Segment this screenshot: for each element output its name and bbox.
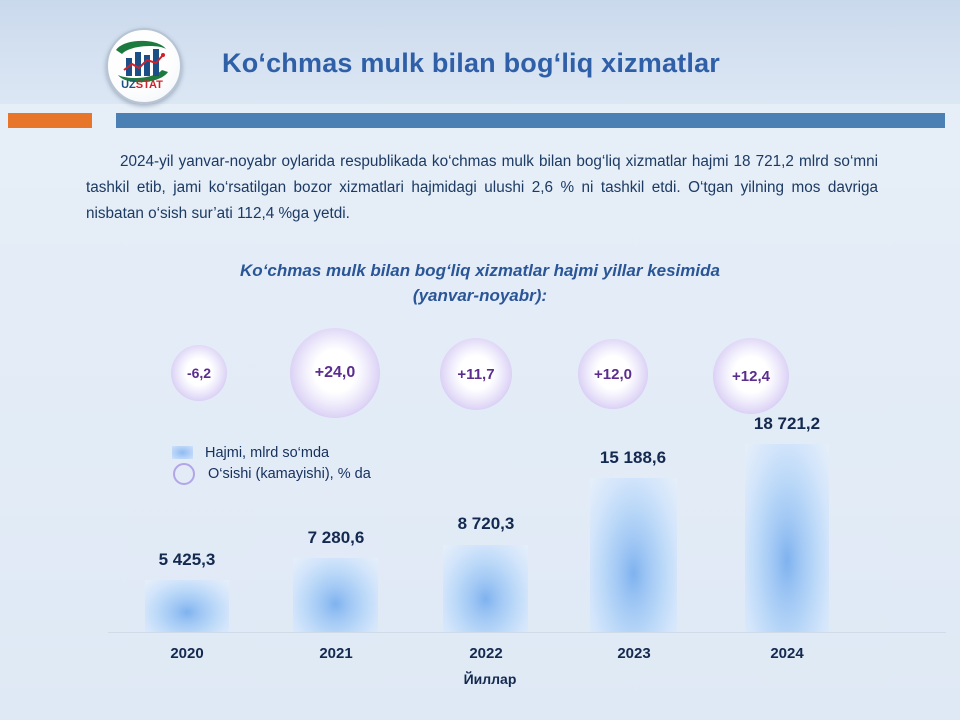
x-tick-2024: 2024 — [727, 645, 847, 662]
legend-item-volume: Hajmi, mlrd so‘mda — [172, 442, 371, 463]
legend-label: O‘sishi (kamayishi), % da — [208, 466, 371, 482]
bar-value-2024: 18 721,2 — [722, 414, 852, 434]
growth-bubble-label: +11,7 — [457, 366, 494, 383]
bar-2024 — [745, 444, 829, 632]
bar-value-2021: 7 280,6 — [276, 528, 396, 548]
infographic-page: UZSTAT Ko‘chmas mulk bilan bog‘liq xizma… — [0, 0, 960, 720]
bar-2023 — [590, 478, 677, 632]
x-axis-title: Йиллар — [430, 671, 550, 687]
legend-item-growth: O‘sishi (kamayishi), % da — [172, 463, 371, 484]
legend-label: Hajmi, mlrd so‘mda — [205, 445, 329, 461]
legend-square-icon — [172, 446, 193, 459]
x-axis-line — [108, 632, 946, 633]
growth-bubble-label: +12,4 — [732, 368, 770, 385]
growth-bubble-2023: +12,0 — [578, 339, 648, 409]
bar-2020 — [145, 580, 229, 632]
x-tick-2023: 2023 — [574, 645, 694, 662]
growth-bubble-2022: +11,7 — [440, 338, 512, 410]
growth-bubble-label: +12,0 — [594, 366, 632, 383]
bar-2022 — [443, 545, 528, 632]
bar-value-2022: 8 720,3 — [426, 514, 546, 534]
growth-bubble-2020: -6,2 — [171, 345, 227, 401]
growth-bubble-2024: +12,4 — [713, 338, 789, 414]
bar-value-2023: 15 188,6 — [568, 448, 698, 468]
bar-value-2020: 5 425,3 — [127, 550, 247, 570]
growth-bubble-2021: +24,0 — [290, 328, 380, 418]
growth-bubble-label: -6,2 — [187, 365, 211, 381]
x-tick-2020: 2020 — [127, 645, 247, 662]
chart-legend: Hajmi, mlrd so‘mda O‘sishi (kamayishi), … — [172, 442, 371, 484]
bar-chart: -6,2 +24,0 +11,7 +12,0 +12,4 Hajmi, mlrd… — [0, 0, 960, 720]
growth-bubble-label: +24,0 — [315, 364, 355, 382]
legend-circle-icon — [173, 463, 195, 485]
bar-2021 — [293, 558, 378, 632]
x-tick-2021: 2021 — [276, 645, 396, 662]
x-tick-2022: 2022 — [426, 645, 546, 662]
